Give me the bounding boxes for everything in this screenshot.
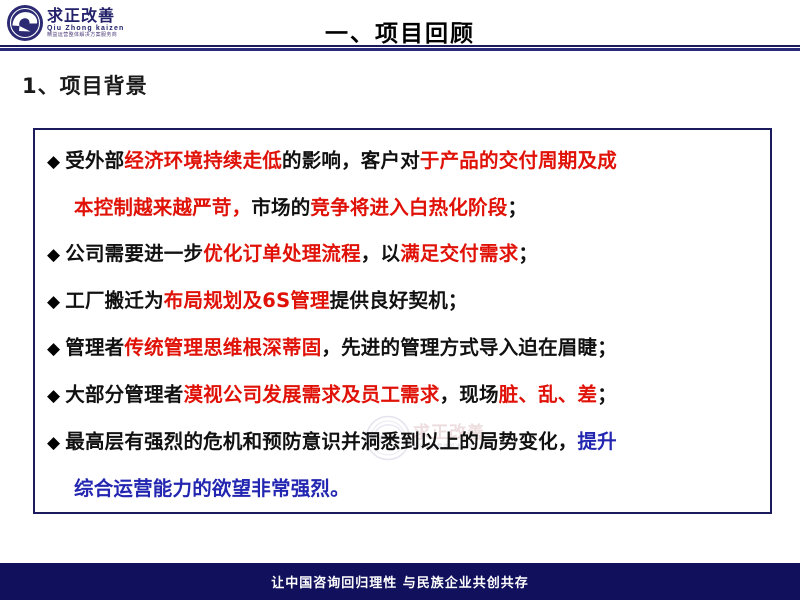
text-run: ； xyxy=(507,196,527,219)
page-title: 一、项目回顾 xyxy=(0,14,800,48)
text-run: 满足交付需求 xyxy=(400,242,518,265)
text-run: 大部分管理者 xyxy=(65,383,183,406)
bullet-item-continuation: 综合运营能力的欲望非常强烈。 xyxy=(47,466,759,512)
text-run: 传统管理思维根深蒂固 xyxy=(124,336,321,359)
text-run: 管理者 xyxy=(65,336,124,359)
bullet-item: ◆管理者传统管理思维根深蒂固，先进的管理方式导入迫在眉睫； xyxy=(47,325,759,372)
bullet-list: ◆受外部经济环境持续走低的影响，客户对于产品的交付周期及成本控制越来越严苛，市场… xyxy=(47,138,759,512)
text-run: 本控制越来越严苛， xyxy=(74,196,251,219)
text-run: 工厂搬迁为 xyxy=(65,289,164,312)
diamond-bullet-icon: ◆ xyxy=(47,292,65,312)
text-run: 综合运营能力的欲望非常强烈。 xyxy=(74,477,350,500)
text-run: 经济环境持续走低 xyxy=(124,149,282,172)
slide-footer: 让中国咨询回归理性 与民族企业共创共存 xyxy=(0,563,800,600)
slide: 求正改善 Qiu Zhong kaizen 精益运营整体解决方案服务商 一、项目… xyxy=(0,0,800,600)
bullet-item: ◆公司需要进一步优化订单处理流程，以满足交付需求； xyxy=(47,231,759,278)
bullet-item-continuation: 本控制越来越严苛，市场的竞争将进入白热化阶段； xyxy=(47,185,759,231)
text-run: 的影响，客户对 xyxy=(282,149,420,172)
header-divider-bottom xyxy=(0,48,800,51)
content-box: 求正改善 精益运营整体解决方案服务商 ◆受外部经济环境持续走低的影响，客户对于产… xyxy=(33,128,772,514)
text-run: 提供良好契机； xyxy=(330,289,468,312)
text-run: ，先进的管理方式导入迫在眉睫； xyxy=(321,336,617,359)
bullet-item: ◆工厂搬迁为布局规划及6S管理提供良好契机； xyxy=(47,278,759,325)
diamond-bullet-icon: ◆ xyxy=(47,245,65,265)
text-run: 优化订单处理流程 xyxy=(203,242,361,265)
text-run: ，现场 xyxy=(440,383,499,406)
diamond-bullet-icon: ◆ xyxy=(47,339,65,359)
section-heading: 1、项目背景 xyxy=(22,70,148,100)
diamond-bullet-icon: ◆ xyxy=(47,433,65,453)
text-run: ； xyxy=(597,383,617,406)
text-run: ； xyxy=(518,242,538,265)
slide-header: 求正改善 Qiu Zhong kaizen 精益运营整体解决方案服务商 一、项目… xyxy=(0,0,800,52)
text-run: 提升 xyxy=(577,430,616,453)
diamond-bullet-icon: ◆ xyxy=(47,152,65,172)
diamond-bullet-icon: ◆ xyxy=(47,386,65,406)
text-run: 脏、乱、差 xyxy=(499,383,598,406)
text-run: 于产品的交付周期及成 xyxy=(420,149,617,172)
text-run: 受外部 xyxy=(65,149,124,172)
header-divider-top xyxy=(0,45,800,47)
footer-slogan: 让中国咨询回归理性 与民族企业共创共存 xyxy=(271,572,529,591)
text-run: 竞争将进入白热化阶段 xyxy=(310,196,507,219)
bullet-item: ◆大部分管理者漠视公司发展需求及员工需求，现场脏、乱、差； xyxy=(47,372,759,419)
text-run: 市场的 xyxy=(251,196,310,219)
bullet-item: ◆受外部经济环境持续走低的影响，客户对于产品的交付周期及成 xyxy=(47,138,759,185)
text-run: 漠视公司发展需求及员工需求 xyxy=(183,383,439,406)
bullet-item: ◆最高层有强烈的危机和预防意识并洞悉到以上的局势变化，提升 xyxy=(47,419,759,466)
text-run: 布局规划及6S管理 xyxy=(164,289,330,312)
text-run: ，以 xyxy=(361,242,400,265)
text-run: 公司需要进一步 xyxy=(65,242,203,265)
text-run: 最高层有强烈的危机和预防意识并洞悉到以上的局势变化， xyxy=(65,430,577,453)
